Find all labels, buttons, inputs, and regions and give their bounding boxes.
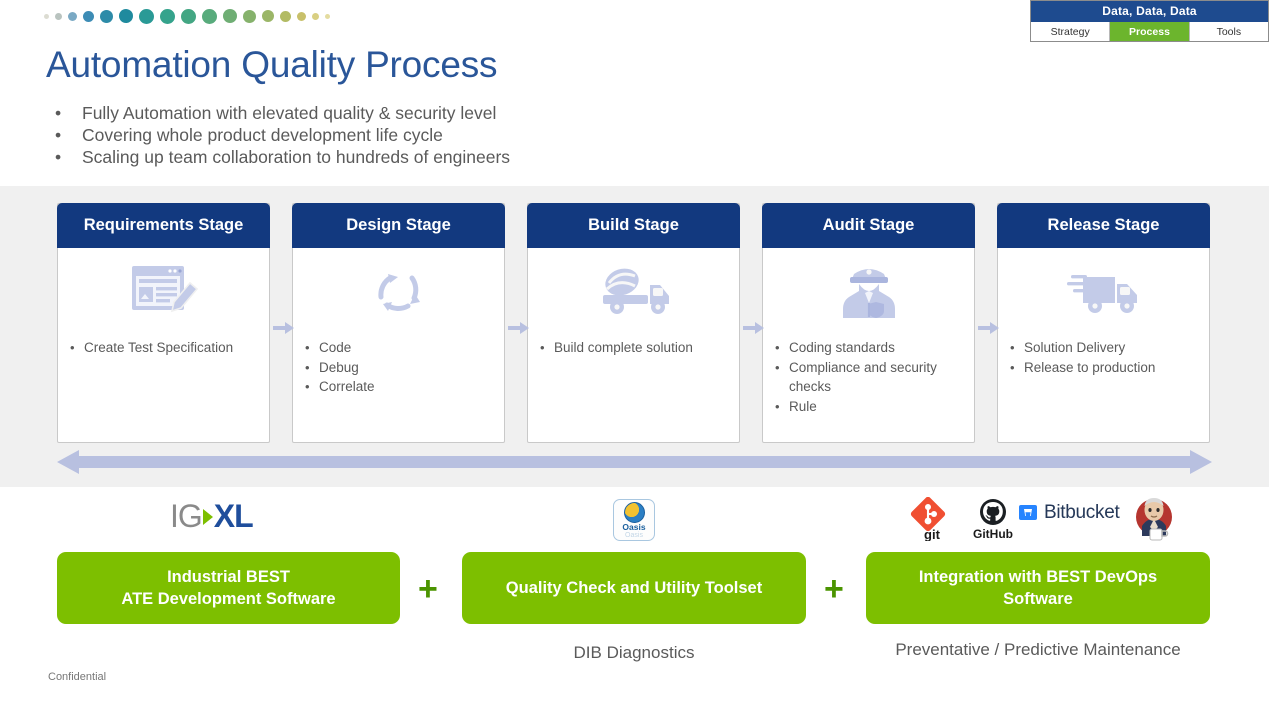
solution-box-line2: Software	[919, 588, 1157, 610]
ribbon-dot	[181, 9, 196, 24]
connector-arrow-icon	[978, 321, 1000, 335]
igxl-logo-xl-text: XL	[214, 498, 253, 535]
intro-bullet-list: •Fully Automation with elevated quality …	[55, 103, 815, 169]
bullet-marker-icon: •	[55, 147, 82, 168]
bitbucket-logo: Bitbucket	[1018, 502, 1119, 524]
nav-widget: Data, Data, Data Strategy Process Tools	[1030, 0, 1269, 42]
stage-item-list: •Solution Delivery •Release to productio…	[998, 326, 1209, 377]
svg-text:git: git	[924, 527, 941, 541]
list-item: •Solution Delivery	[1010, 338, 1199, 358]
ribbon-dot	[83, 11, 94, 22]
stage-item-list: •Code •Debug •Correlate	[293, 326, 504, 397]
solution-box-line1: Industrial BEST	[121, 566, 335, 588]
ribbon-dot	[262, 10, 274, 22]
document-edit-icon	[58, 256, 269, 326]
connector-arrow-icon	[508, 321, 530, 335]
oasis-logo: Oasis Oasis	[613, 499, 655, 541]
igxl-logo: IGXL	[170, 498, 253, 535]
stage-title: Build Stage	[527, 203, 740, 248]
stage-item-text: Compliance and security checks	[789, 358, 964, 397]
solution-caption-dib: DIB Diagnostics	[462, 641, 806, 664]
stage-item-text: Release to production	[1024, 358, 1155, 378]
refresh-cycle-icon	[293, 256, 504, 326]
intro-bullet-text: Covering whole product development life …	[82, 125, 443, 146]
igxl-logo-ig-text: IG	[170, 498, 202, 535]
ribbon-dot	[280, 11, 291, 22]
intro-bullet-item: •Fully Automation with elevated quality …	[55, 103, 815, 124]
solution-box-quality-check[interactable]: Quality Check and Utility Toolset	[462, 552, 806, 624]
list-item: •Release to production	[1010, 358, 1199, 378]
bullet-marker-icon: •	[1010, 358, 1024, 378]
stage-card-release[interactable]: Release Stage •Solution Delivery •Releas…	[997, 203, 1210, 443]
bullet-marker-icon: •	[305, 338, 319, 358]
list-item: •Rule	[775, 397, 964, 417]
git-logo: git	[910, 497, 956, 541]
solution-caption-maintenance: Preventative / Predictive Maintenance	[866, 638, 1210, 661]
bullet-marker-icon: •	[305, 358, 319, 378]
stage-item-list: •Build complete solution	[528, 326, 739, 358]
stage-item-text: Build complete solution	[554, 338, 693, 358]
bitbucket-icon	[1018, 503, 1038, 523]
bullet-marker-icon: •	[55, 125, 82, 146]
oasis-logo-text: Oasis	[622, 523, 645, 532]
dot-ribbon-decoration	[44, 6, 330, 26]
tab-process[interactable]: Process	[1110, 22, 1189, 41]
list-item: •Debug	[305, 358, 494, 378]
list-item: •Coding standards	[775, 338, 964, 358]
stage-item-text: Code	[319, 338, 351, 358]
ribbon-dot	[68, 12, 77, 21]
plus-icon: +	[418, 572, 438, 606]
stage-item-list: •Create Test Specification	[58, 326, 269, 358]
ribbon-dot	[100, 10, 113, 23]
stage-item-text: Debug	[319, 358, 359, 378]
stage-card-design[interactable]: Design Stage •Code •Debug •Correlate	[292, 203, 505, 443]
solution-box-devops-integration[interactable]: Integration with BEST DevOps Software	[866, 552, 1210, 624]
intro-bullet-text: Fully Automation with elevated quality &…	[82, 103, 496, 124]
police-officer-icon	[763, 256, 974, 326]
igxl-logo-triangle-icon	[203, 509, 213, 525]
stage-card-build[interactable]: Build Stage •Build complete solution	[527, 203, 740, 443]
cement-mixer-truck-icon	[528, 256, 739, 326]
list-item: •Compliance and security checks	[775, 358, 964, 397]
plus-icon: +	[824, 572, 844, 606]
bullet-marker-icon: •	[775, 397, 789, 417]
solution-box-line2: ATE Development Software	[121, 588, 335, 610]
ribbon-dot	[139, 9, 154, 24]
list-item: •Build complete solution	[540, 338, 729, 358]
ribbon-dot	[312, 13, 319, 20]
bullet-marker-icon: •	[70, 338, 84, 358]
stage-title: Design Stage	[292, 203, 505, 248]
bullet-marker-icon: •	[55, 103, 82, 124]
ribbon-dot	[297, 12, 306, 21]
globe-icon	[624, 502, 645, 523]
intro-bullet-text: Scaling up team collaboration to hundred…	[82, 147, 510, 168]
bullet-marker-icon: •	[1010, 338, 1024, 358]
stage-item-text: Solution Delivery	[1024, 338, 1125, 358]
tab-strategy[interactable]: Strategy	[1031, 22, 1110, 41]
bullet-marker-icon: •	[775, 338, 789, 358]
ribbon-dot	[55, 13, 62, 20]
ribbon-dot	[119, 9, 133, 23]
ribbon-dot	[325, 14, 330, 19]
solution-box-industrial-best[interactable]: Industrial BEST ATE Development Software	[57, 552, 400, 624]
double-headed-arrow-icon	[57, 450, 1212, 474]
stage-card-requirements[interactable]: Requirements Stage •Create Test Specific…	[57, 203, 270, 443]
stage-item-text: Correlate	[319, 377, 375, 397]
solution-box-line1: Integration with BEST DevOps	[919, 566, 1157, 588]
confidential-label: Confidential	[48, 671, 106, 683]
ribbon-dot	[44, 14, 49, 19]
bullet-marker-icon: •	[540, 338, 554, 358]
intro-bullet-item: •Covering whole product development life…	[55, 125, 815, 146]
ribbon-dot	[223, 9, 237, 23]
svg-text:GitHub: GitHub	[973, 527, 1013, 541]
connector-arrow-icon	[743, 321, 765, 335]
oasis-logo-reflection: Oasis	[625, 532, 643, 539]
tab-tools[interactable]: Tools	[1190, 22, 1268, 41]
solution-box-line1: Quality Check and Utility Toolset	[506, 577, 762, 599]
stage-item-text: Create Test Specification	[84, 338, 233, 358]
stage-item-list: •Coding standards •Compliance and securi…	[763, 326, 974, 416]
list-item: •Code	[305, 338, 494, 358]
nav-widget-tabs: Strategy Process Tools	[1031, 22, 1268, 41]
ribbon-dot	[202, 9, 217, 24]
delivery-truck-icon	[998, 256, 1209, 326]
ribbon-dot	[243, 10, 256, 23]
stage-title: Audit Stage	[762, 203, 975, 248]
slide-root: Data, Data, Data Strategy Process Tools …	[0, 0, 1269, 712]
ribbon-dot	[160, 9, 175, 24]
stage-title: Release Stage	[997, 203, 1210, 248]
stage-item-text: Rule	[789, 397, 817, 417]
connector-arrow-icon	[273, 321, 295, 335]
bullet-marker-icon: •	[775, 358, 789, 397]
github-logo: GitHub	[969, 497, 1017, 541]
stage-title: Requirements Stage	[57, 203, 270, 248]
stage-card-audit[interactable]: Audit Stage •Coding standards •Complianc…	[762, 203, 975, 443]
bullet-marker-icon: •	[305, 377, 319, 397]
page-title: Automation Quality Process	[46, 44, 497, 86]
nav-widget-title: Data, Data, Data	[1031, 1, 1268, 22]
stage-item-text: Coding standards	[789, 338, 895, 358]
jenkins-logo	[1132, 496, 1176, 542]
bitbucket-logo-text: Bitbucket	[1044, 502, 1119, 524]
list-item: •Correlate	[305, 377, 494, 397]
list-item: •Create Test Specification	[70, 338, 259, 358]
intro-bullet-item: •Scaling up team collaboration to hundre…	[55, 147, 815, 168]
